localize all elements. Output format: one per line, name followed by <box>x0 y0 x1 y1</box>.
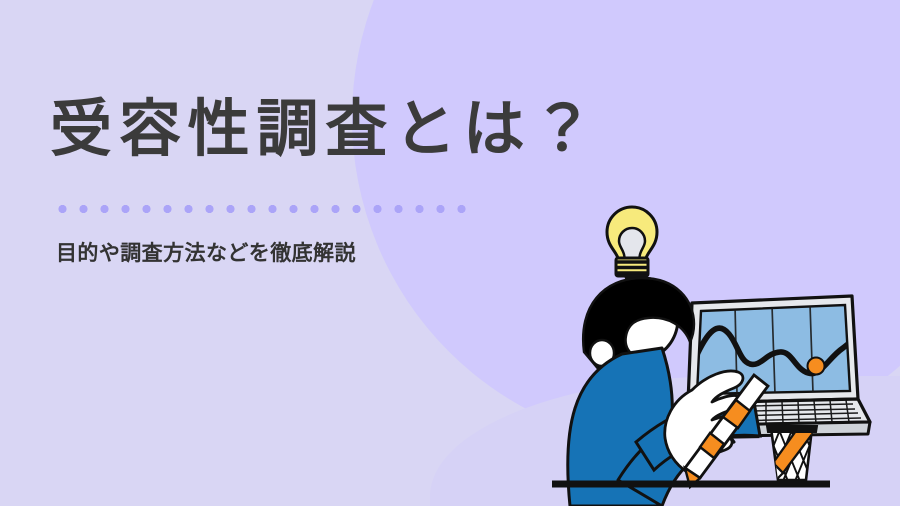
lightbulb-icon <box>607 207 657 281</box>
illustration-svg <box>540 190 900 506</box>
page-title: 受容性調査とは？ <box>50 99 601 161</box>
dotted-divider <box>52 205 472 213</box>
chart-data-point-marker <box>808 358 825 375</box>
hero-illustration <box>540 190 900 506</box>
banner-canvas: 受容性調査とは？ 目的や調査方法などを徹底解説 <box>0 0 900 506</box>
lightbulb-base-threads <box>616 262 648 273</box>
page-subtitle: 目的や調査方法などを徹底解説 <box>56 237 356 267</box>
pencil-cup-rim <box>767 426 817 432</box>
